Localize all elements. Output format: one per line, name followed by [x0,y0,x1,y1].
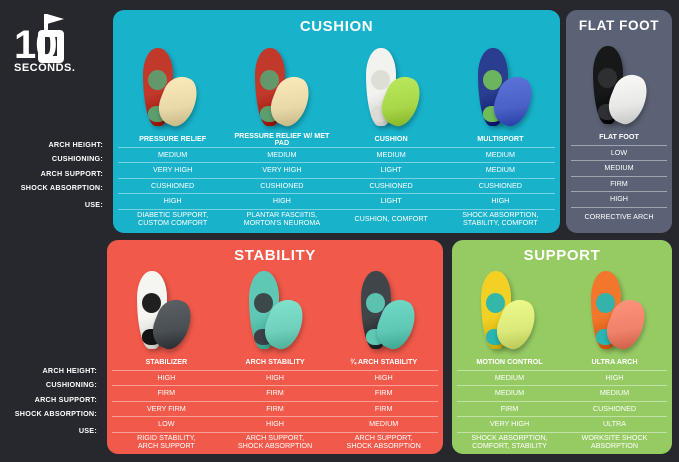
row-divider [112,416,438,417]
spec-row-shock-absorption: LOWHIGHMEDIUM [112,417,438,432]
product-images-stability [107,266,443,355]
spec-row-cushioning: VERY HIGHVERY HIGHLIGHTMEDIUM [118,163,555,178]
row-divider [118,147,555,148]
insole-image-1 [581,269,653,355]
row-divider [457,432,667,433]
spec-value-shock-absorption: LIGHT [337,194,446,209]
row-divider [112,385,438,386]
row-divider [118,162,555,163]
spec-value-shock-absorption: MEDIUM [329,417,438,432]
spec-value-use: DIABETIC SUPPORT, CUSTOM COMFORT [118,210,227,229]
insole-image-0 [133,46,205,132]
spec-value-use: WORKSITE SHOCK ABSORPTION [562,433,667,452]
spec-value-arch-height: HIGH [112,371,221,386]
row-label-shock-absorption: SHOCK ABSORPTION: [0,407,101,422]
spec-value-cushioning: MEDIUM [457,386,562,401]
spec-row-cushioning: FIRMFIRMFIRM [112,386,438,401]
flag-banner [47,14,64,24]
product-ultra-arch [562,266,672,355]
panel-title-flat-foot: FLAT FOOT [566,18,672,33]
spec-value-use: PLANTAR FASCIITIS, MORTON'S NEUROMA [227,210,336,229]
row-divider [571,176,667,177]
spec-table-support: MOTION CONTROLULTRA ARCHMEDIUMHIGHMEDIUM… [452,355,672,452]
spec-row-shock-absorption: HIGHHIGHLIGHTHIGH [118,194,555,209]
spec-header-row: MOTION CONTROLULTRA ARCH [457,355,667,370]
row-label-use: USE: [0,195,107,214]
product-name-header: STABILIZER [112,355,221,370]
product-name-header: PRESSURE RELIEF W/ MET PAD [227,132,336,147]
row-divider [457,370,667,371]
product-cushion [337,37,449,132]
spec-value-arch-support: FIRM [221,402,330,417]
spec-table-cushion: PRESSURE RELIEFPRESSURE RELIEF W/ MET PA… [113,132,560,229]
spec-row-use: RIGID STABILITY, ARCH SUPPORTARCH SUPPOR… [112,433,438,452]
spec-header-row: FLAT FOOT [571,130,667,145]
spec-value-arch-support: FIRM [457,402,562,417]
row-labels-bottom: ARCH HEIGHT:CUSHIONING:ARCH SUPPORT:SHOC… [0,363,101,440]
insole-image-1 [245,46,317,132]
spec-value-arch-height: MEDIUM [118,148,227,163]
row-divider [571,145,667,146]
insole-image-3 [468,46,540,132]
product-arch-stability [331,266,443,355]
spec-value-arch-height: LOW [571,146,667,161]
spec-value-shock-absorption: HIGH [227,194,336,209]
row-divider [118,178,555,179]
spec-value-shock-absorption: VERY HIGH [457,417,562,432]
spec-value-arch-support: CUSHIONED [227,179,336,194]
insole-image-2 [356,46,428,132]
spec-row-arch-height: LOW [571,146,667,161]
spec-value-arch-support: FIRM [571,177,667,192]
spec-row-arch-height: HIGHHIGHHIGH [112,371,438,386]
product-name-header: ULTRA ARCH [562,355,667,370]
spec-row-cushioning: MEDIUM [571,161,667,176]
insole-image-2 [351,269,423,355]
row-divider [112,432,438,433]
spec-value-shock-absorption: HIGH [118,194,227,209]
spec-table-flat-foot: FLAT FOOTLOWMEDIUMFIRMHIGHCORRECTIVE ARC… [566,130,672,227]
row-divider [112,370,438,371]
row-divider [118,209,555,210]
spec-row-arch-height: MEDIUMMEDIUMMEDIUMMEDIUM [118,148,555,163]
product-name-header: FLAT FOOT [571,130,667,145]
spec-value-cushioning: FIRM [112,386,221,401]
panel-flat-foot: FLAT FOOT FLAT FOOTLOWMEDIUMFIRMHIGHCORR… [566,10,672,233]
spec-row-use: DIABETIC SUPPORT, CUSTOM COMFORTPLANTAR … [118,210,555,229]
spec-header-row: STABILIZERARCH STABILITY¾ ARCH STABILITY [112,355,438,370]
spec-value-cushioning: VERY HIGH [118,163,227,178]
spec-row-shock-absorption: HIGH [571,192,667,207]
spec-value-cushioning: MEDIUM [562,386,667,401]
spec-value-use: SHOCK ABSORPTION, COMFORT, STABILITY [457,433,562,452]
insole-image-0 [127,269,199,355]
product-multisport [448,37,560,132]
spec-row-use: SHOCK ABSORPTION, COMFORT, STABILITYWORK… [457,433,667,452]
spec-row-shock-absorption: VERY HIGHULTRA [457,417,667,432]
product-motion-control [452,266,562,355]
spec-value-use: CUSHION, COMFORT [337,210,446,229]
row-divider [457,416,667,417]
product-images-cushion [113,37,560,132]
spec-header-row: PRESSURE RELIEFPRESSURE RELIEF W/ MET PA… [118,132,555,147]
panel-title-support: SUPPORT [452,247,672,264]
row-divider [112,401,438,402]
spec-value-arch-support: CUSHIONED [446,179,555,194]
spec-row-arch-support: FIRM [571,177,667,192]
product-name-header: MOTION CONTROL [457,355,562,370]
spec-value-arch-support: CUSHIONED [562,402,667,417]
spec-value-cushioning: LIGHT [337,163,446,178]
spec-row-arch-support: VERY FIRMFIRMFIRM [112,402,438,417]
row-divider [571,191,667,192]
row-divider [457,401,667,402]
product-pressure-relief-w-met-pad [225,37,337,132]
product-name-header: ARCH STABILITY [221,355,330,370]
spec-value-arch-height: HIGH [221,371,330,386]
row-label-arch-height: ARCH HEIGHT: [0,363,101,378]
spec-value-arch-support: FIRM [329,402,438,417]
spec-value-shock-absorption: HIGH [221,417,330,432]
spec-value-arch-height: HIGH [329,371,438,386]
spec-table-stability: STABILIZERARCH STABILITY¾ ARCH STABILITY… [107,355,443,452]
spec-value-shock-absorption: HIGH [571,192,667,207]
panel-title-stability: STABILITY [107,247,443,264]
spec-row-arch-support: FIRMCUSHIONED [457,402,667,417]
spec-value-use: SHOCK ABSORPTION, STABILITY, COMFORT [446,210,555,229]
panel-support: SUPPORT MOTION CONTROLULTRA ARCHMEDIUMHI… [452,240,672,454]
spec-row-arch-support: CUSHIONEDCUSHIONEDCUSHIONEDCUSHIONED [118,179,555,194]
row-divider [571,207,667,208]
product-pressure-relief [113,37,225,132]
spec-value-shock-absorption: HIGH [446,194,555,209]
row-label-cushioning: CUSHIONING: [0,378,101,393]
spec-value-use: RIGID STABILITY, ARCH SUPPORT [112,433,221,452]
panel-cushion: CUSHION PRESSURE RELIEFPRESSURE RELIEF W… [113,10,560,233]
product-images-support [452,266,672,355]
spec-value-shock-absorption: LOW [112,417,221,432]
product-name-header: PRESSURE RELIEF [118,132,227,147]
panel-stability: STABILITY STABILIZERARCH STABILITY¾ ARCH… [107,240,443,454]
spec-value-use: ARCH SUPPORT, SHOCK ABSORPTION [221,433,330,452]
row-label-arch-support: ARCH SUPPORT: [0,166,107,181]
spec-value-arch-height: MEDIUM [227,148,336,163]
spec-row-cushioning: MEDIUMMEDIUM [457,386,667,401]
spec-value-use: ARCH SUPPORT, SHOCK ABSORPTION [329,433,438,452]
spec-value-arch-height: MEDIUM [457,371,562,386]
spec-value-arch-support: CUSHIONED [118,179,227,194]
spec-value-arch-support: VERY FIRM [112,402,221,417]
spec-value-cushioning: VERY HIGH [227,163,336,178]
product-arch-stability [219,266,331,355]
insole-comparison-chart: 10 SECONDS. ARCH HEIGHT:CUSHIONING:ARCH … [0,0,679,462]
arch-pad [260,70,279,90]
panel-title-cushion: CUSHION [113,18,560,35]
flag-icon [44,14,70,32]
insole-image-1 [239,269,311,355]
row-label-arch-support: ARCH SUPPORT: [0,392,101,407]
row-labels-top: ARCH HEIGHT:CUSHIONING:ARCH SUPPORT:SHOC… [0,137,107,214]
product-name-header: MULTISPORT [446,132,555,147]
insole-image-0 [471,269,543,355]
spec-value-arch-height: MEDIUM [337,148,446,163]
spec-value-use: CORRECTIVE ARCH [571,208,667,227]
spec-value-arch-support: CUSHIONED [337,179,446,194]
product-images-flat-foot [566,35,672,130]
spec-value-arch-height: MEDIUM [446,148,555,163]
spec-row-arch-height: MEDIUMHIGH [457,371,667,386]
spec-value-cushioning: MEDIUM [446,163,555,178]
row-label-shock-absorption: SHOCK ABSORPTION: [0,181,107,196]
product-name-header: ¾ ARCH STABILITY [329,355,438,370]
logo-wordmark: SECONDS. [14,62,75,74]
spec-value-cushioning: FIRM [221,386,330,401]
spec-value-shock-absorption: ULTRA [562,417,667,432]
spec-value-cushioning: FIRM [329,386,438,401]
logo-zero-shape [38,30,64,63]
product-name-header: CUSHION [337,132,446,147]
row-label-cushioning: CUSHIONING: [0,152,107,167]
product-flat-foot [566,35,672,130]
row-divider [571,160,667,161]
spec-row-use: CORRECTIVE ARCH [571,208,667,227]
row-divider [457,385,667,386]
row-label-arch-height: ARCH HEIGHT: [0,137,107,152]
insole-image-0 [583,44,655,130]
row-label-use: USE: [0,421,101,440]
product-stabilizer [107,266,219,355]
row-divider [118,193,555,194]
brand-logo: 10 SECONDS. [12,18,98,80]
logo-mark: 10 [12,18,92,64]
spec-value-arch-height: HIGH [562,371,667,386]
spec-value-cushioning: MEDIUM [571,161,667,176]
